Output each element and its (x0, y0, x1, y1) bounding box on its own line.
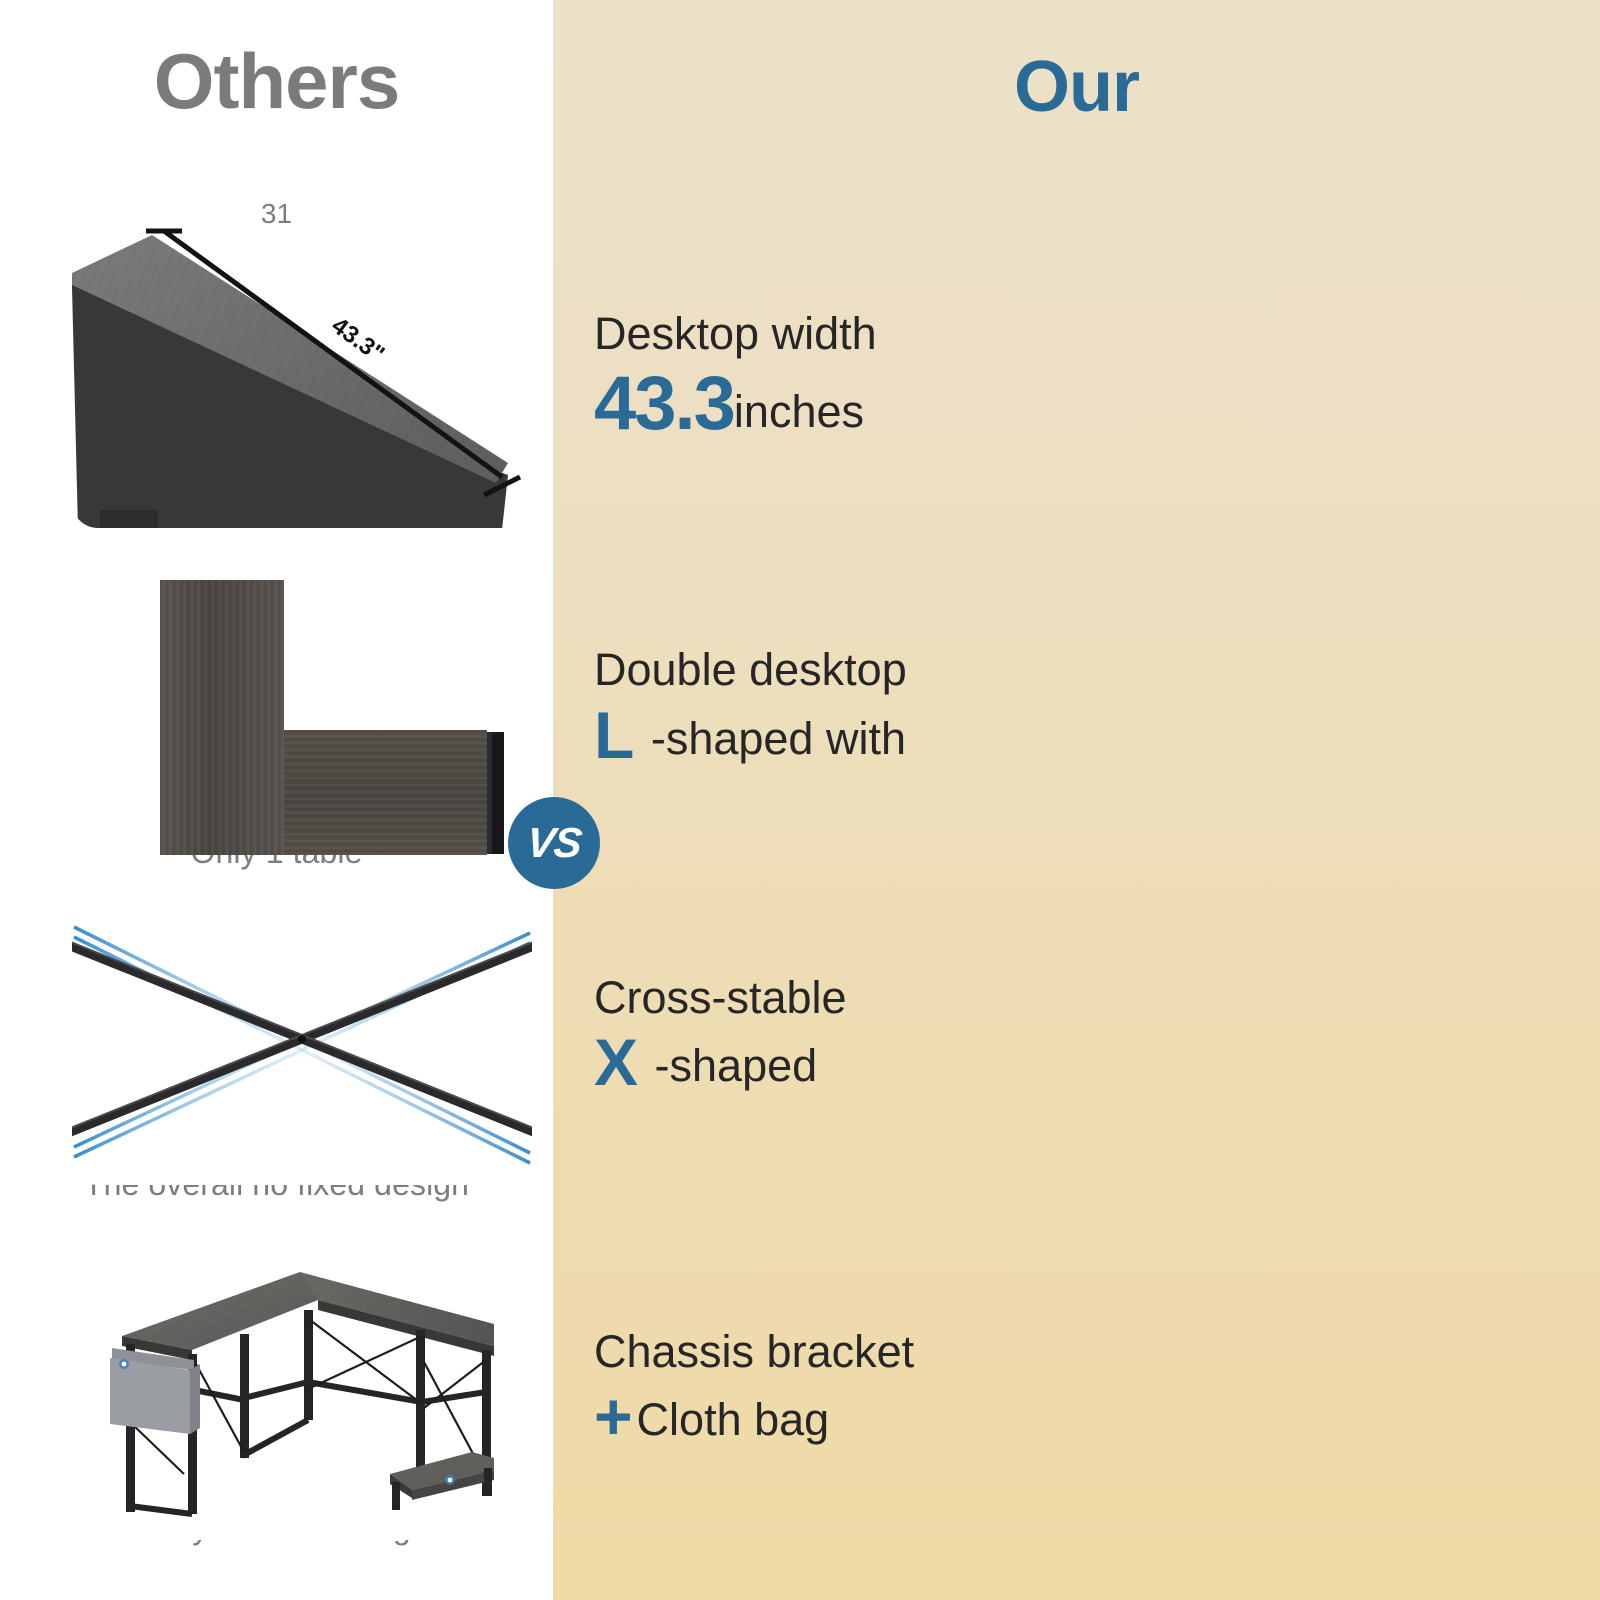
row-2-highlight: L (594, 698, 638, 772)
row-3-rest: -shaped (642, 1040, 817, 1091)
l-shaped-boards-photo (72, 560, 532, 855)
row-4-highlight: + (594, 1379, 637, 1453)
row-3-text: Cross-stable X -shaped (594, 973, 847, 1098)
row-1-text: Desktop width 43.3inches (594, 309, 877, 444)
vs-label: VS (524, 819, 583, 867)
angled-desktop-photo: 43.3" (72, 225, 532, 528)
row-4-line1: Chassis bracket (594, 1327, 914, 1377)
row-4-text: Chassis bracket +Cloth bag (594, 1327, 914, 1452)
our-title: Our (553, 46, 1600, 128)
card-l-shaped-boards (72, 560, 532, 855)
row-1-line1: Desktop width (594, 309, 877, 359)
infographic-canvas: Others 31 Desktop width of 31 inches Onl… (0, 0, 1600, 1600)
row-1-unit: inches (734, 386, 864, 437)
row-2-line2: L -shaped with (594, 701, 907, 770)
row-3-highlight: X (594, 1025, 642, 1099)
row-3-line2: X -shaped (594, 1028, 847, 1097)
our-row-chassis-bracket: Chassis bracket +Cloth bag (72, 1238, 1032, 1540)
row-1-highlight: 43.3 (594, 361, 734, 446)
row-2-line1: Double desktop (594, 645, 907, 695)
our-row-cross-stable: Cross-stable X -shaped (72, 885, 1032, 1185)
row-4-line2: +Cloth bag (594, 1382, 914, 1451)
others-title: Others (0, 36, 553, 127)
x-cross-brace-photo (72, 885, 532, 1185)
row-4-rest: Cloth bag (637, 1394, 830, 1445)
row-1-line2: 43.3inches (594, 364, 877, 444)
l-desk-assembled-photo (72, 1238, 532, 1540)
card-l-desk-assembled (72, 1238, 532, 1540)
row-2-text: Double desktop L -shaped with (594, 645, 907, 770)
our-row-desktop-width: 43.3" Desktop width 43.3inches (72, 225, 1032, 528)
card-angled-desktop: 43.3" (72, 225, 532, 528)
row-2-rest: -shaped with (638, 713, 906, 764)
vs-badge: VS (508, 797, 600, 889)
card-x-cross-brace (72, 885, 532, 1185)
row-3-line1: Cross-stable (594, 973, 847, 1023)
